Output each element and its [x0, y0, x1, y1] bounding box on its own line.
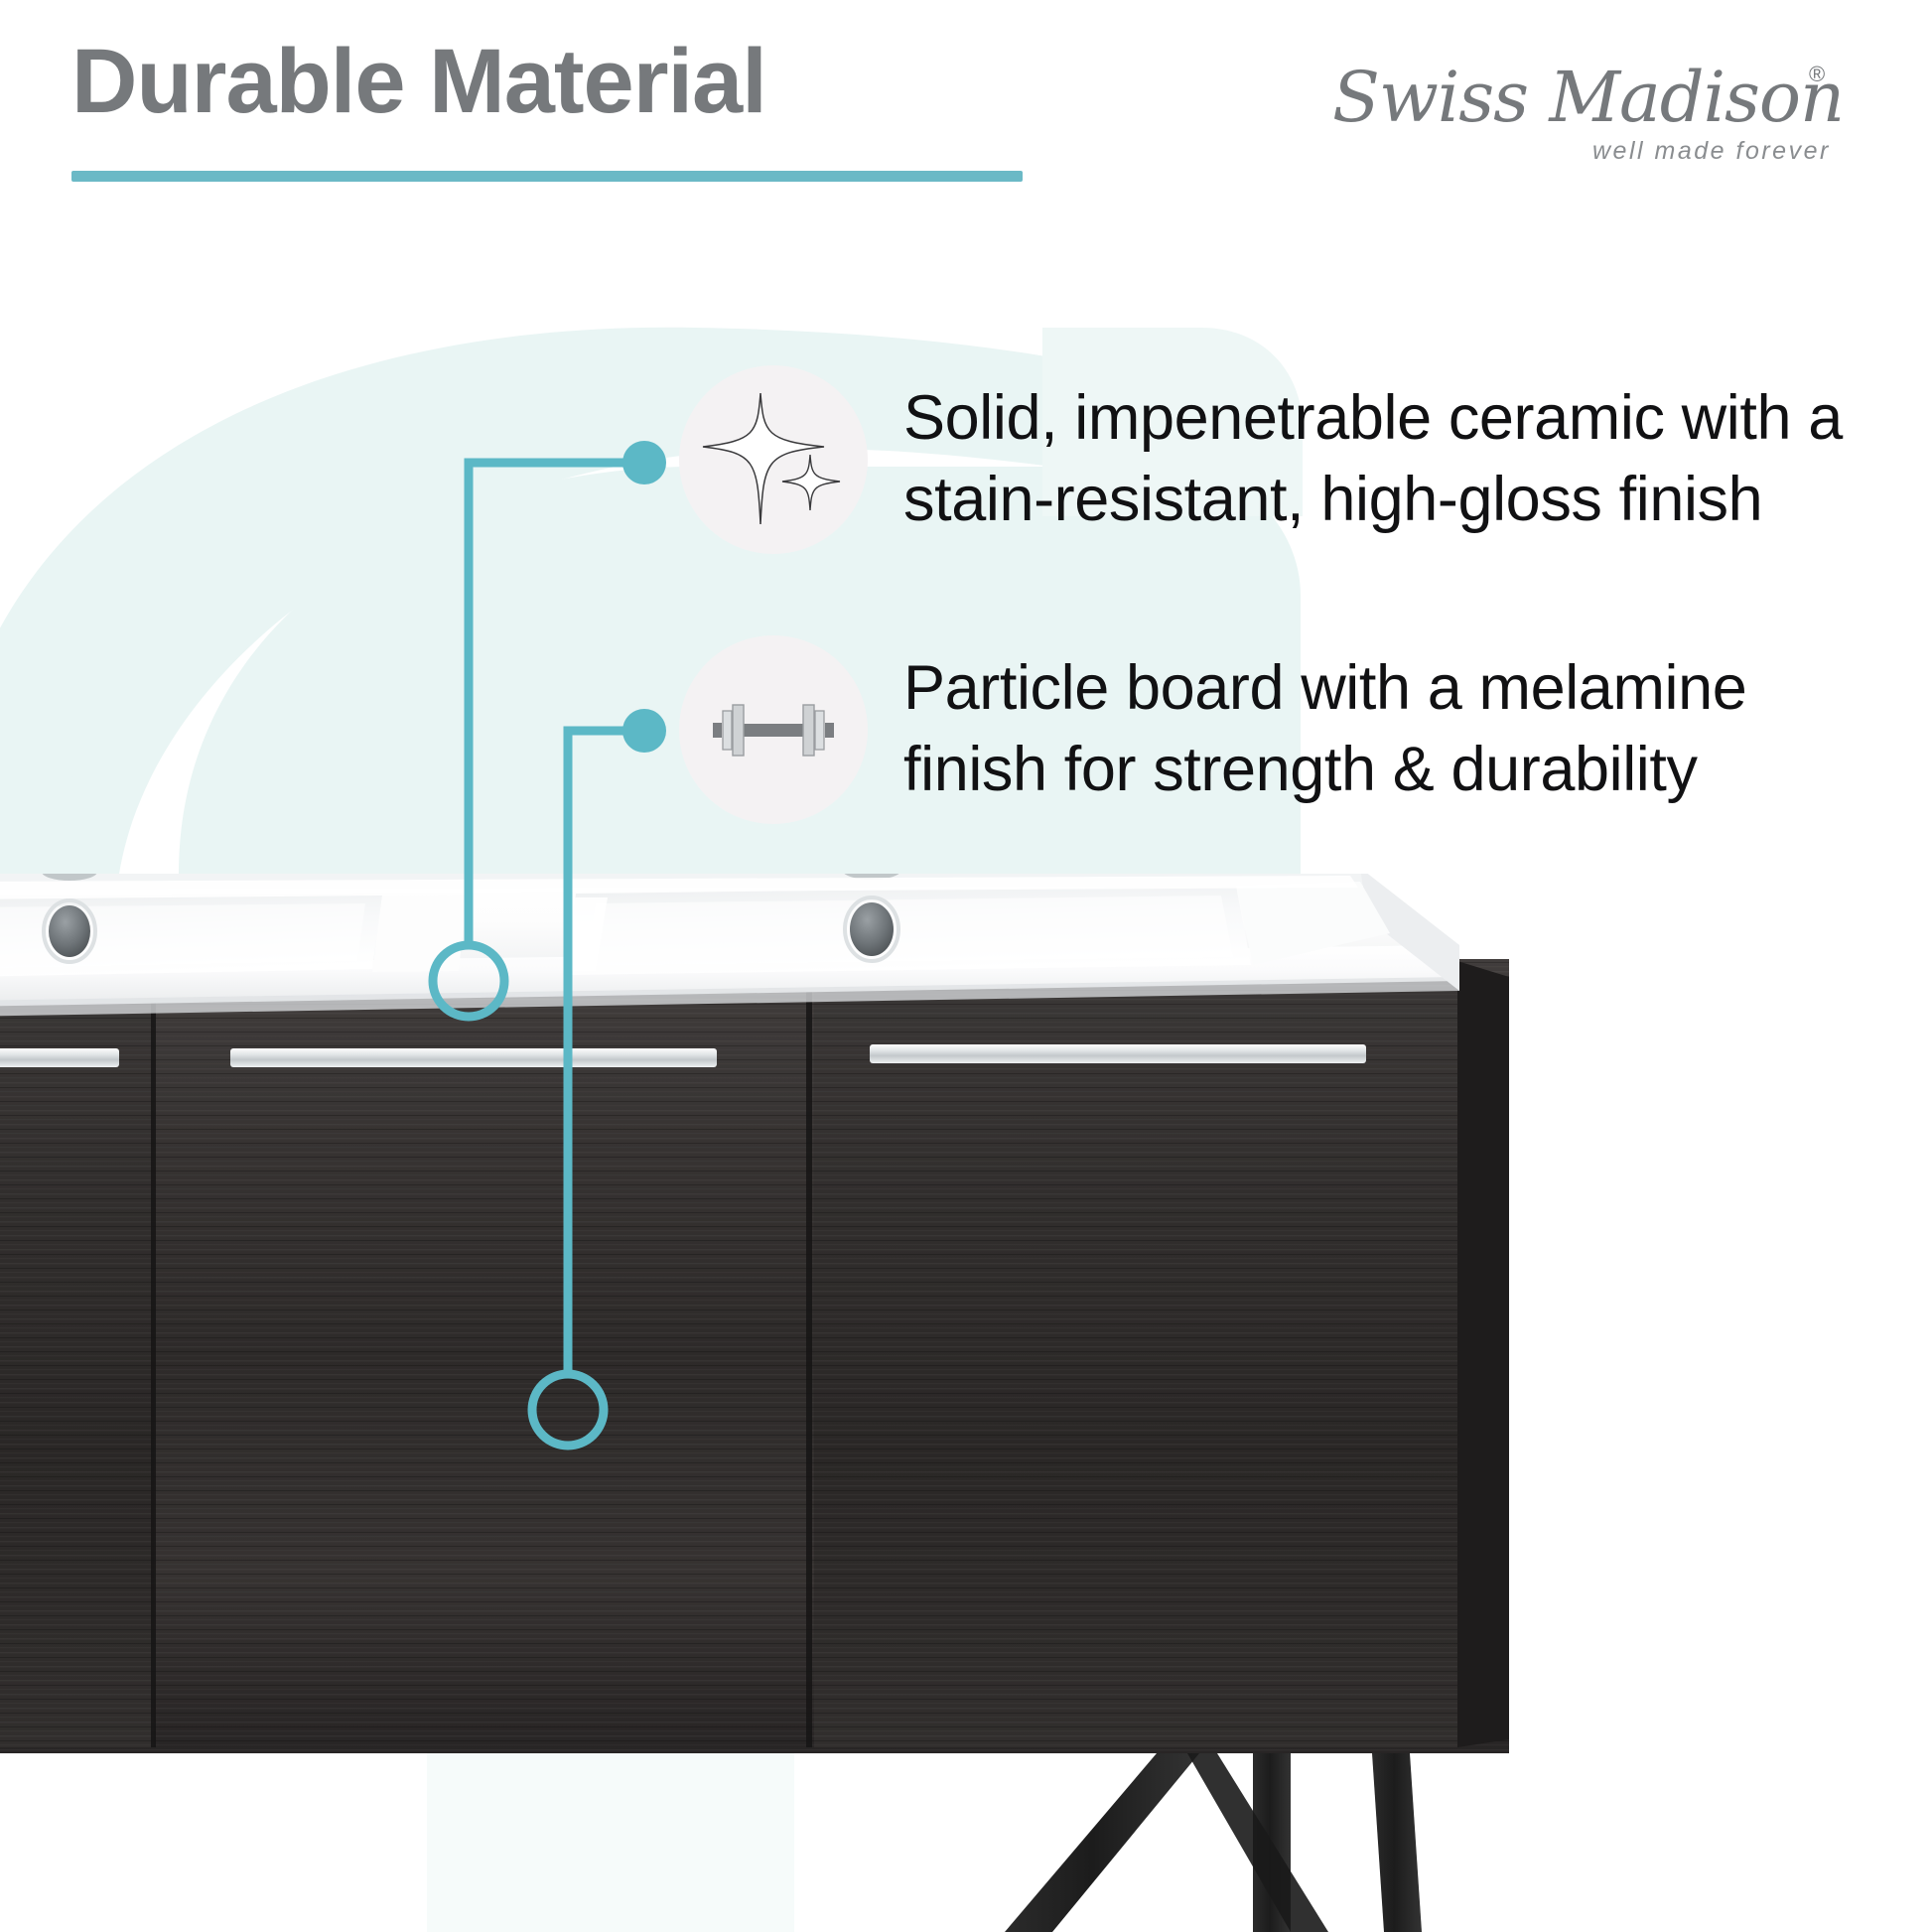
chrome-bar-handle	[0, 1048, 119, 1067]
title-underline	[71, 171, 1023, 182]
page-title: Durable Material	[71, 36, 766, 127]
product-image-double-sink-vanity	[0, 874, 1932, 1932]
sparkle-icon	[699, 385, 848, 534]
callout-line: Solid, impenetrable ceramic with a	[903, 378, 1843, 460]
infographic-canvas: Durable Material Swiss Madison ® well ma…	[0, 0, 1932, 1932]
callout-text-particle-board: Particle board with a melamine finish fo…	[903, 648, 1746, 811]
callout-line: stain-resistant, high-gloss finish	[903, 460, 1843, 541]
header: Durable Material Swiss Madison ® well ma…	[0, 0, 1932, 228]
brand-tagline: well made forever	[1592, 137, 1831, 165]
dumbbell-icon	[699, 655, 848, 804]
brand-registered-mark: ®	[1809, 62, 1825, 86]
callout-icon-badge	[679, 365, 868, 554]
chrome-bar-handle	[870, 1044, 1366, 1063]
chrome-bar-handle	[230, 1048, 717, 1067]
callout-item-particle-board: Particle board with a melamine finish fo…	[679, 635, 1746, 824]
drain-chrome	[49, 905, 90, 957]
brand-logo-name: Swiss Madison	[1332, 57, 1844, 138]
callout-line: finish for strength & durability	[903, 730, 1746, 811]
callout-line: Particle board with a melamine	[903, 648, 1746, 730]
callout-icon-badge	[679, 635, 868, 824]
drain-chrome	[850, 902, 894, 956]
callout-text-ceramic: Solid, impenetrable ceramic with a stain…	[903, 378, 1843, 541]
cabinet-legs	[1005, 1753, 1422, 1932]
cabinet-body	[0, 959, 1509, 1753]
brand-logo: Swiss Madison ® well made forever	[1326, 48, 1863, 172]
callout-item-ceramic: Solid, impenetrable ceramic with a stain…	[679, 365, 1843, 554]
